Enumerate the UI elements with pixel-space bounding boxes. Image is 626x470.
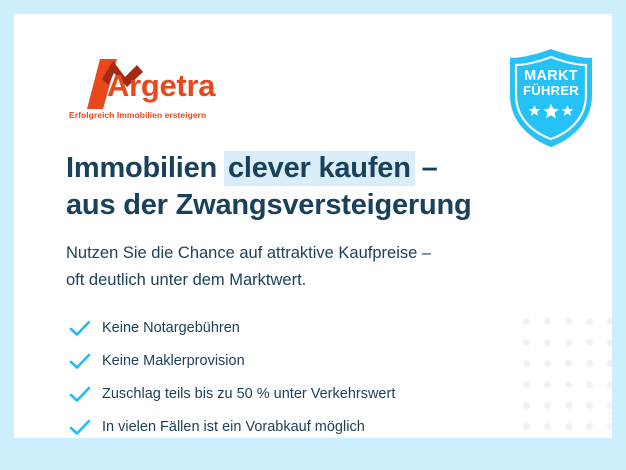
- market-leader-badge: MARKT FÜHRER: [502, 47, 600, 149]
- decorative-dot: [544, 360, 551, 367]
- decorative-dot: [544, 381, 551, 388]
- decorative-dot: [544, 423, 551, 430]
- decorative-dot: [586, 339, 593, 346]
- argetra-logo[interactable]: Argetra Erfolgreich Immobilien ersteiger…: [69, 59, 219, 127]
- logo-tagline: Erfolgreich Immobilien ersteigern: [69, 110, 206, 120]
- decorative-dot: [607, 360, 612, 367]
- decorative-dot: [607, 381, 612, 388]
- outer-frame: Argetra Erfolgreich Immobilien ersteiger…: [0, 0, 626, 470]
- headline-highlight: clever kaufen: [224, 151, 415, 186]
- decorative-dot: [565, 360, 572, 367]
- benefits-list: Keine Notargebühren Keine Maklerprovisio…: [68, 314, 528, 438]
- decorative-dot: [586, 318, 593, 325]
- check-icon: [68, 386, 92, 404]
- list-item-label: Zuschlag teils bis zu 50 % unter Verkehr…: [102, 386, 395, 403]
- decorative-dot: [586, 381, 593, 388]
- decorative-dot: [544, 339, 551, 346]
- check-icon: [68, 320, 92, 338]
- list-item: Zuschlag teils bis zu 50 % unter Verkehr…: [68, 380, 528, 409]
- logo-wordmark: Argetra: [107, 70, 215, 101]
- decorative-dot: [586, 402, 593, 409]
- subheading-line-2: oft deutlich unter dem Marktwert.: [66, 267, 566, 294]
- list-item: In vielen Fällen ist ein Vorabkauf mögli…: [68, 413, 528, 438]
- list-item: Keine Maklerprovision: [68, 347, 528, 376]
- decorative-dot: [607, 318, 612, 325]
- list-item-label: Keine Maklerprovision: [102, 353, 245, 370]
- promo-card: Argetra Erfolgreich Immobilien ersteiger…: [14, 14, 612, 438]
- subheading-line-1: Nutzen Sie die Chance auf attraktive Kau…: [66, 240, 566, 267]
- headline-line-2: aus der Zwangsversteigerung: [66, 187, 566, 224]
- decorative-dot: [607, 402, 612, 409]
- decorative-dot: [565, 423, 572, 430]
- page-title: Immobilien clever kaufen – aus der Zwang…: [66, 150, 566, 224]
- decorative-dot: [544, 402, 551, 409]
- decorative-dot: [586, 423, 593, 430]
- decorative-dot: [607, 423, 612, 430]
- decorative-dot: [586, 360, 593, 367]
- decorative-dot: [565, 318, 572, 325]
- decorative-dot: [544, 318, 551, 325]
- headline-part-2: –: [414, 152, 438, 184]
- headline-part-1: Immobilien: [66, 152, 225, 184]
- list-item-label: In vielen Fällen ist ein Vorabkauf mögli…: [102, 419, 365, 436]
- decorative-dot: [607, 339, 612, 346]
- subheading: Nutzen Sie die Chance auf attraktive Kau…: [66, 240, 566, 293]
- decorative-dot: [565, 381, 572, 388]
- list-item-label: Keine Notargebühren: [102, 320, 240, 337]
- decorative-dot-grid: [523, 318, 612, 438]
- decorative-dot: [565, 339, 572, 346]
- check-icon: [68, 419, 92, 437]
- list-item: Keine Notargebühren: [68, 314, 528, 343]
- check-icon: [68, 353, 92, 371]
- decorative-dot: [565, 402, 572, 409]
